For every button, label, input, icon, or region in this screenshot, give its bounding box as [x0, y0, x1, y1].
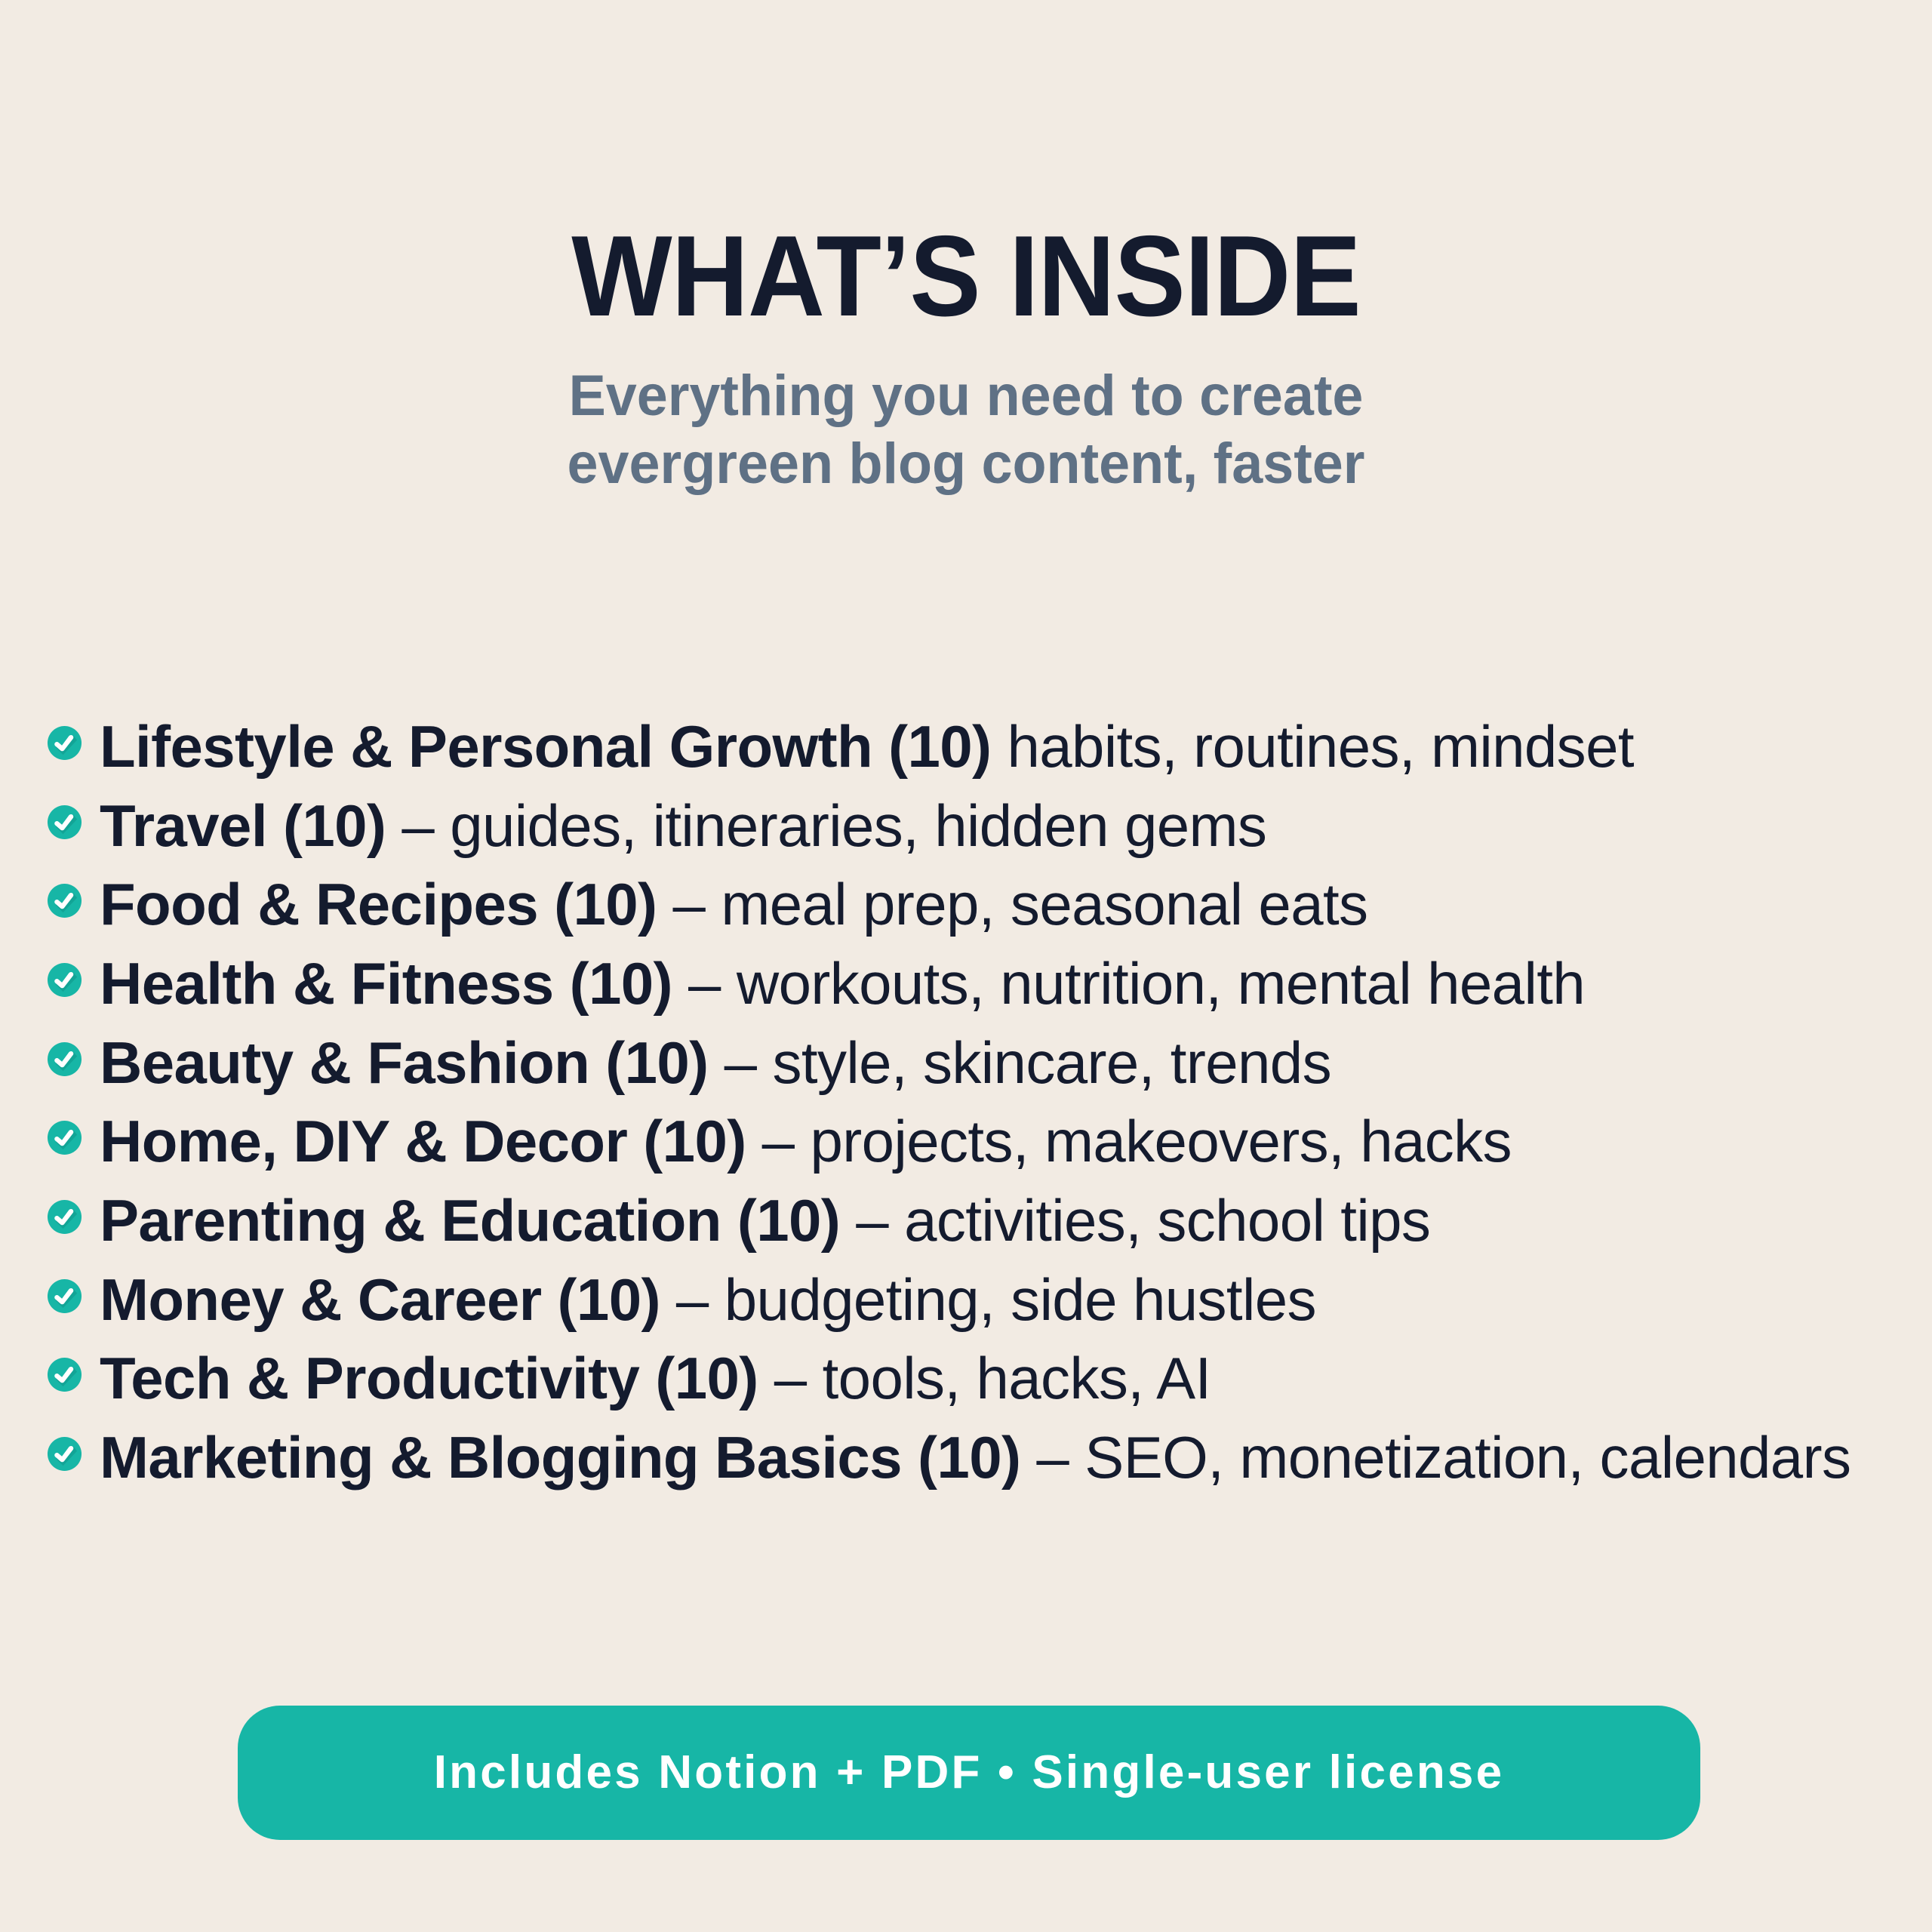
subtitle-line-2: evergreen blog content, faster [568, 432, 1365, 496]
list-item: Lifestyle & Personal Growth (10) habits,… [45, 715, 1902, 778]
check-circle-icon [47, 1357, 82, 1392]
list-item: Tech & Productivity (10) – tools, hacks,… [45, 1347, 1902, 1410]
page-subtitle: Everything you need to create evergreen … [29, 334, 1903, 497]
whats-inside-poster: WHAT’S INSIDE Everything you need to cre… [0, 0, 1932, 1932]
check-circle-icon [47, 725, 82, 761]
feature-description: – projects, makeovers, hacks [746, 1108, 1512, 1174]
page-title: WHAT’S INSIDE [68, 219, 1865, 334]
feature-label: Parenting & Education (10) [100, 1187, 840, 1254]
feature-description: – activities, school tips [840, 1187, 1430, 1254]
check-circle-icon [47, 1041, 82, 1077]
feature-description: – tools, hacks, AI [758, 1345, 1211, 1411]
check-circle-icon [47, 804, 82, 840]
feature-description: habits, routines, mindset [991, 713, 1634, 780]
check-circle-icon [47, 962, 82, 998]
license-banner: Includes Notion + PDF • Single-user lice… [238, 1706, 1700, 1840]
feature-description: – meal prep, seasonal eats [657, 871, 1367, 937]
subtitle-line-1: Everything you need to create [569, 364, 1364, 428]
feature-list: Lifestyle & Personal Growth (10) habits,… [45, 715, 1902, 1506]
feature-label: Beauty & Fashion (10) [100, 1029, 709, 1096]
list-item: Travel (10) – guides, itineraries, hidde… [45, 795, 1902, 857]
check-circle-icon [47, 1278, 82, 1314]
list-item: Health & Fitness (10) – workouts, nutrit… [45, 952, 1902, 1015]
list-item: Beauty & Fashion (10) – style, skincare,… [45, 1032, 1902, 1094]
feature-description: – SEO, monetization, calendars [1020, 1424, 1850, 1491]
license-banner-text: Includes Notion + PDF • Single-user lice… [434, 1749, 1505, 1796]
check-circle-icon [47, 1199, 82, 1235]
feature-description: – budgeting, side hustles [660, 1266, 1316, 1333]
feature-description: – style, skincare, trends [709, 1029, 1331, 1096]
feature-label: Home, DIY & Decor (10) [100, 1108, 746, 1174]
feature-label: Health & Fitness (10) [100, 950, 672, 1017]
list-item: Marketing & Blogging Basics (10) – SEO, … [45, 1426, 1902, 1489]
feature-description: – workouts, nutrition, mental health [672, 950, 1585, 1017]
list-item: Money & Career (10) – budgeting, side hu… [45, 1269, 1902, 1331]
feature-label: Tech & Productivity (10) [100, 1345, 758, 1411]
feature-label: Food & Recipes (10) [100, 871, 657, 937]
feature-description: – guides, itineraries, hidden gems [386, 792, 1266, 859]
header: WHAT’S INSIDE Everything you need to cre… [0, 0, 1932, 497]
feature-label: Marketing & Blogging Basics (10) [100, 1424, 1020, 1491]
feature-label: Money & Career (10) [100, 1266, 660, 1333]
list-item: Home, DIY & Decor (10) – projects, makeo… [45, 1110, 1902, 1173]
feature-label: Travel (10) [100, 792, 386, 859]
feature-label: Lifestyle & Personal Growth (10) [100, 713, 991, 780]
list-item: Food & Recipes (10) – meal prep, seasona… [45, 873, 1902, 936]
check-circle-icon [47, 1436, 82, 1472]
check-circle-icon [47, 883, 82, 918]
check-circle-icon [47, 1120, 82, 1155]
list-item: Parenting & Education (10) – activities,… [45, 1189, 1902, 1252]
